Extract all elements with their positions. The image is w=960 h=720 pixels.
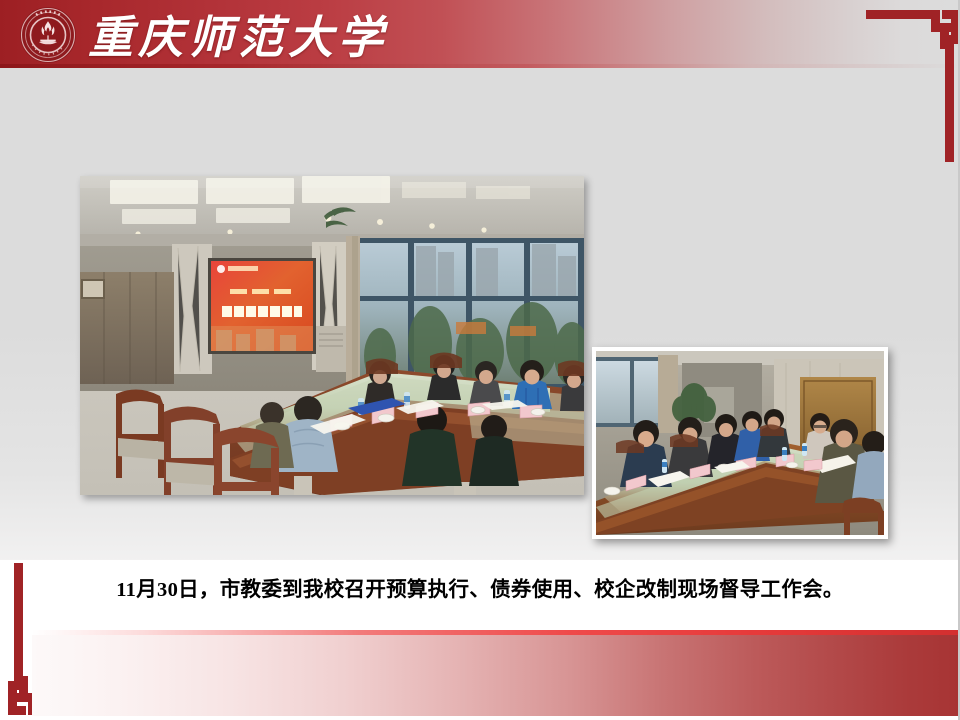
chinese-meander-corner-icon-top-right [866,10,960,162]
presentation-slide: 重庆师范大学 [0,0,960,720]
slide-caption: 11月30日，市教委到我校召开预算执行、债券使用、校企改制现场督导工作会。 [0,572,960,602]
conference-table-closeup-photo [592,347,888,539]
conference-room-wide-photo [80,176,584,495]
footer-baseline [0,716,960,720]
footer-band [32,635,960,718]
page-title: 重庆师范大学 [88,2,388,64]
university-seal-icon [19,6,77,64]
